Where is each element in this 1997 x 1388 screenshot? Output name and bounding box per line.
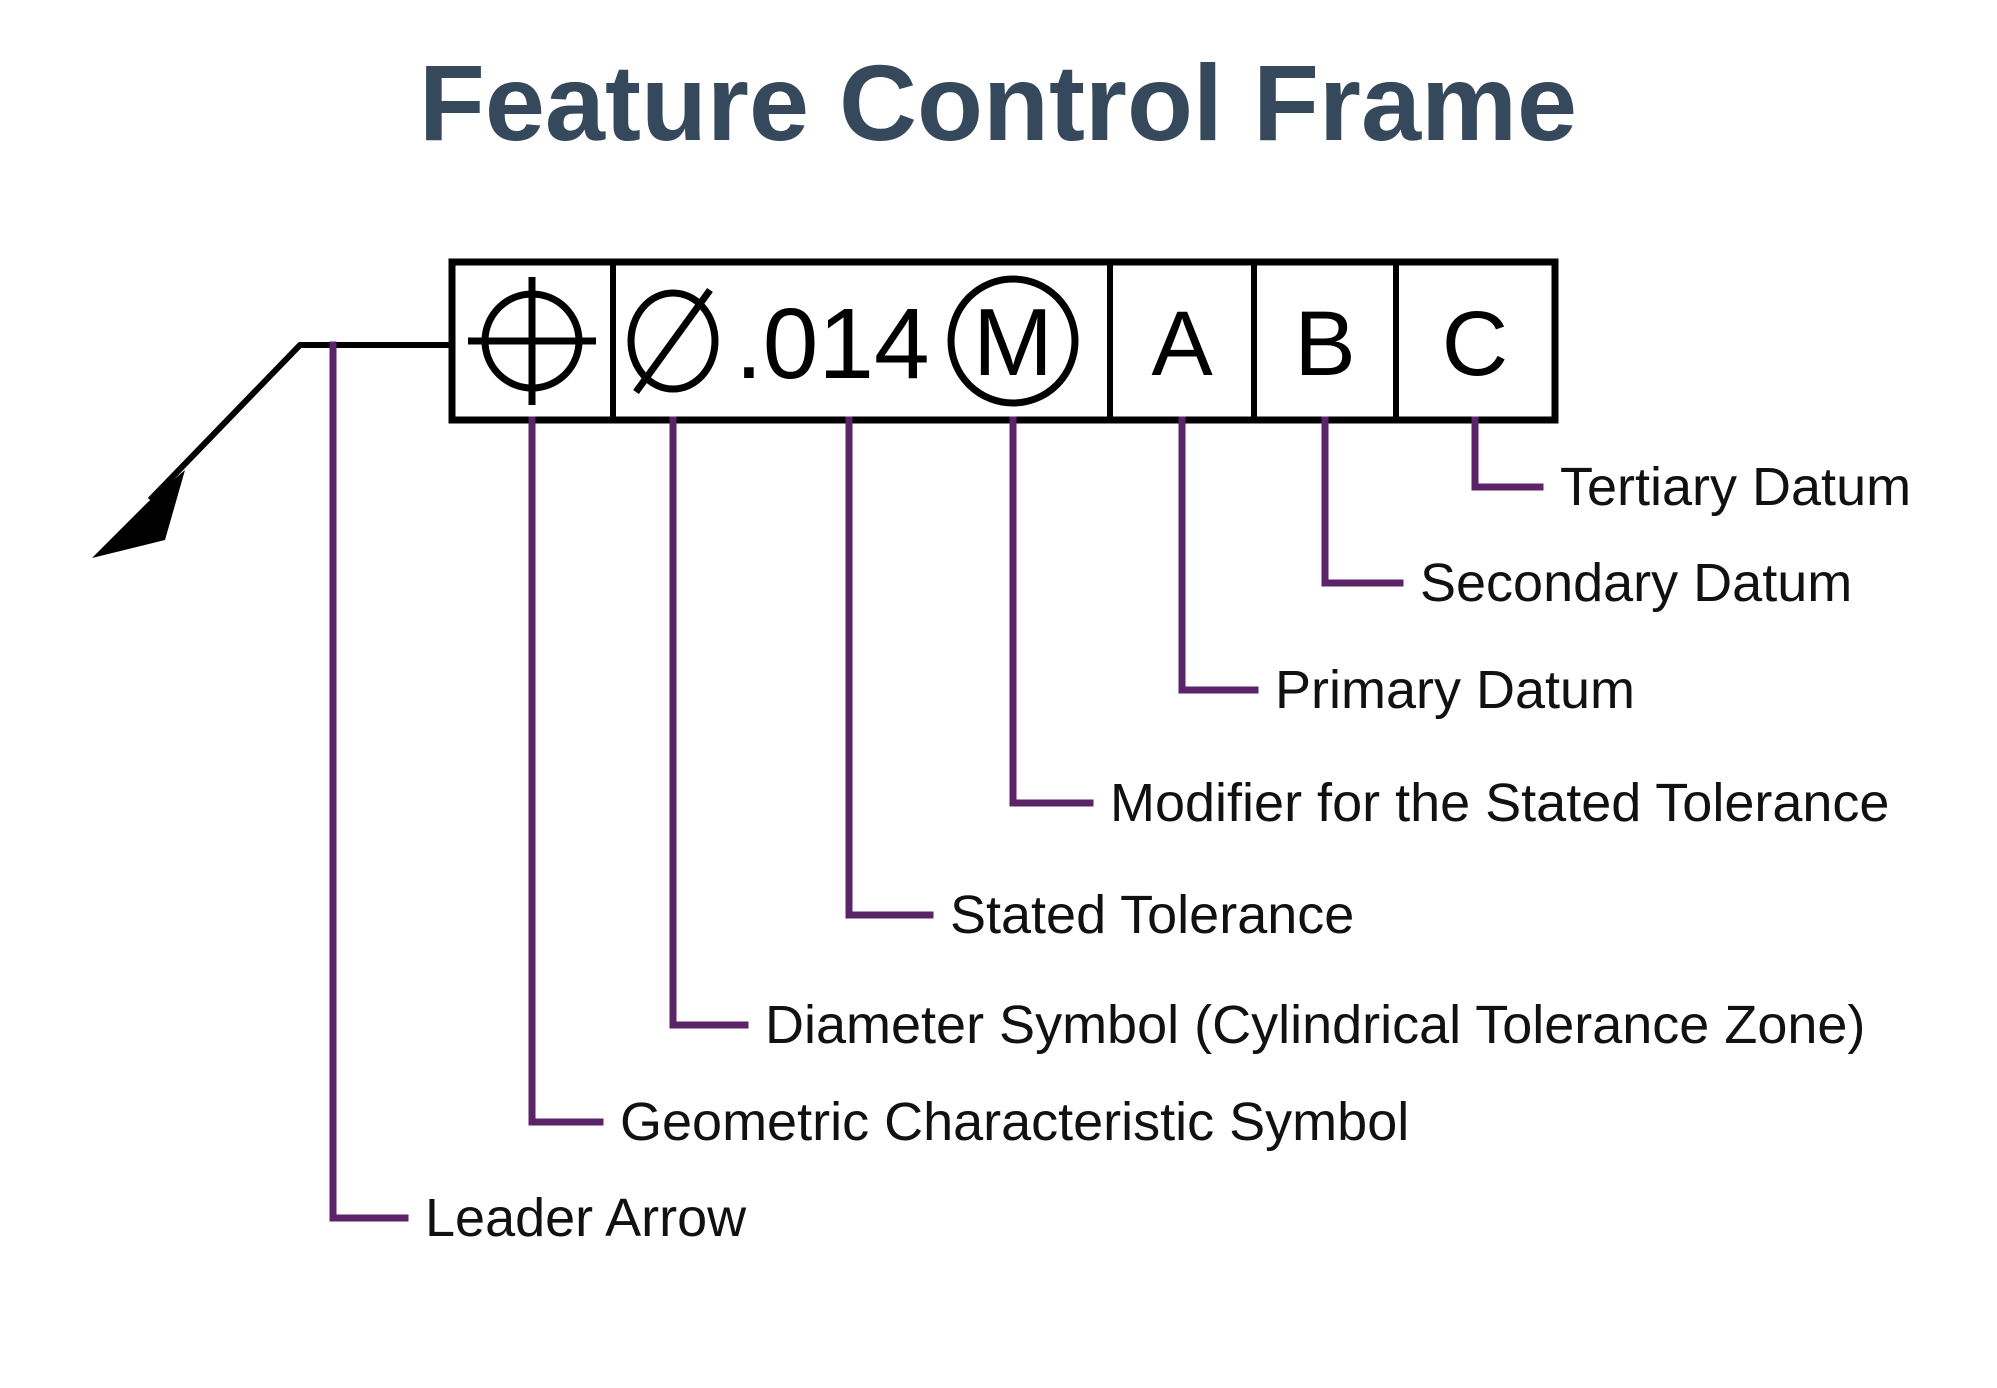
secondary-datum-letter: B bbox=[1294, 293, 1355, 395]
callout-label-tertiary-datum: Tertiary Datum bbox=[1560, 457, 1911, 517]
page-title: Feature Control Frame bbox=[419, 42, 1577, 163]
callout-line-primary-datum bbox=[1182, 420, 1255, 690]
callout-line-secondary-datum bbox=[1325, 420, 1400, 583]
callout-line-stated-tolerance bbox=[849, 420, 930, 915]
callout-line-geometric-characteristic bbox=[532, 420, 600, 1122]
stated-tolerance-value: .014 bbox=[735, 288, 930, 400]
callout-line-diameter-symbol bbox=[673, 420, 745, 1025]
callout-label-leader-arrow: Leader Arrow bbox=[425, 1188, 747, 1248]
callout-label-secondary-datum: Secondary Datum bbox=[1420, 553, 1852, 613]
callout-line-tertiary-datum bbox=[1475, 420, 1540, 487]
callout-label-stated-tolerance: Stated Tolerance bbox=[950, 885, 1354, 945]
callout-label-diameter-symbol: Diameter Symbol (Cylindrical Tolerance Z… bbox=[765, 995, 1865, 1055]
callout-label-primary-datum: Primary Datum bbox=[1275, 660, 1635, 720]
callout-line-modifier bbox=[1013, 420, 1090, 803]
tertiary-datum-letter: C bbox=[1442, 293, 1508, 395]
callout-line-leader-arrow bbox=[333, 345, 405, 1218]
callout-label-modifier: Modifier for the Stated Tolerance bbox=[1110, 773, 1889, 833]
leader-arrow bbox=[92, 345, 455, 558]
modifier-letter: M bbox=[973, 289, 1053, 396]
feature-control-frame[interactable]: .014 M A B C bbox=[452, 262, 1555, 420]
primary-datum-letter: A bbox=[1151, 293, 1213, 395]
diagram-canvas: Feature Control Frame .014 M A bbox=[0, 0, 1997, 1388]
callout-label-geometric-characteristic: Geometric Characteristic Symbol bbox=[620, 1092, 1409, 1152]
